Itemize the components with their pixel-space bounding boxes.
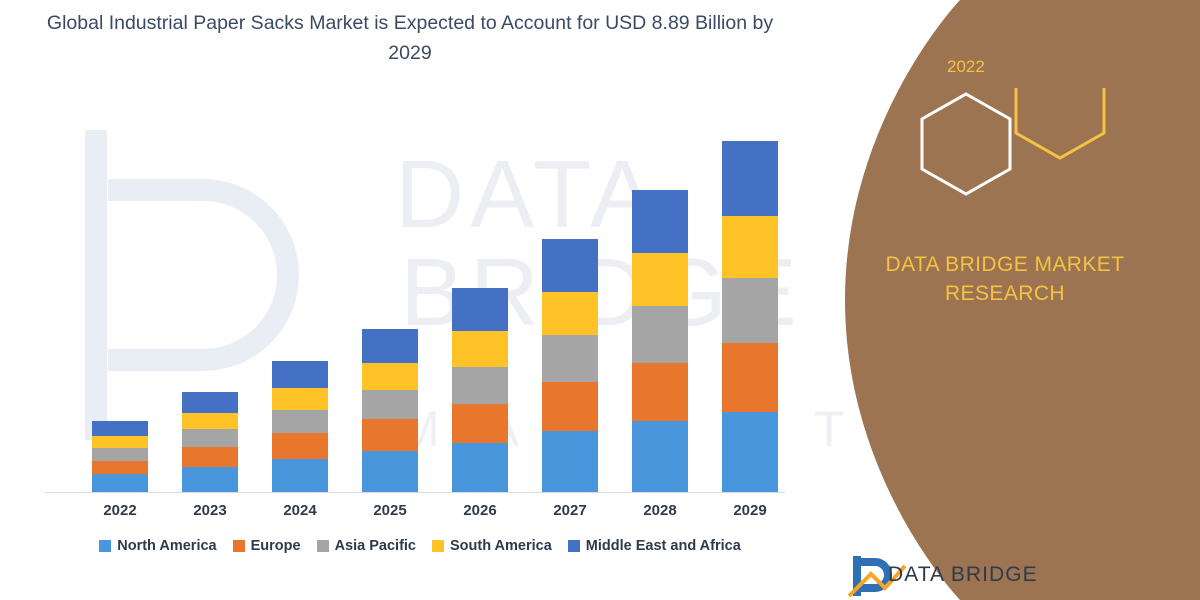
bar-segment [92,436,148,448]
bar-segment [362,451,418,492]
bar-segment [632,190,688,253]
legend-item[interactable]: North America [99,538,216,554]
bar-group [362,329,418,492]
x-axis-labels: 20222023202420252026202720282029 [40,498,800,524]
chart-infographic: DATA BRIDGE M A R K E T R E S E A R C H … [0,0,1200,600]
x-axis-tick-label: 2029 [715,502,785,519]
x-axis-tick-label: 2027 [535,502,605,519]
brand-name-line1: DATA BRIDGE MARKET [840,250,1170,279]
bar-segment [722,343,778,412]
bar-segment [362,390,418,419]
bar-segment [182,467,238,492]
legend-label: Europe [251,538,301,554]
legend-item[interactable]: Europe [233,538,301,554]
bar-segment [362,329,418,362]
legend-label: North America [117,538,216,554]
bar-segment [272,410,328,434]
bar-segment [92,474,148,492]
chart-legend: North AmericaEuropeAsia PacificSouth Ame… [40,538,800,554]
bar-segment [542,239,598,292]
legend-swatch [568,540,580,552]
legend-item[interactable]: Asia Pacific [317,538,416,554]
bar-group [92,421,148,492]
bar-segment [722,216,778,279]
bar-segment [452,404,508,443]
bar-segment [182,392,238,413]
data-bridge-logo-text: DATA BRIDGE [888,563,1038,587]
hex-label-2022: 2022 [947,57,985,77]
bar-segment [722,412,778,492]
x-axis-tick-label: 2024 [265,502,335,519]
bar-segment [362,419,418,450]
bar-segment [632,421,688,492]
bar-segment [722,141,778,215]
bar-segment [452,288,508,331]
bar-group [452,288,508,492]
bar-group [632,190,688,492]
bar-segment [272,361,328,388]
bar-segment [632,253,688,306]
legend-swatch [432,540,444,552]
legend-item[interactable]: South America [432,538,552,554]
bar-group [542,239,598,492]
x-axis-tick-label: 2023 [175,502,245,519]
bar-segment [182,413,238,430]
bar-segment [92,421,148,436]
bar-segment [542,382,598,431]
brand-name-line2: RESEARCH [840,279,1170,308]
x-axis-tick-label: 2026 [445,502,515,519]
bar-segment [632,363,688,422]
bar-segment [452,367,508,404]
x-axis-tick-label: 2022 [85,502,155,519]
bar-segment [272,459,328,492]
legend-label: Asia Pacific [335,538,416,554]
brand-panel: Market, By Regions, 2022 to 2029 2022 20… [800,0,1200,600]
bar-segment [542,431,598,492]
bar-segment [272,433,328,458]
bar-segment [272,388,328,410]
bar-segment [182,429,238,447]
bar-segment [452,443,508,492]
bar-segment [632,306,688,363]
bar-group [272,361,328,492]
brand-name: DATA BRIDGE MARKET RESEARCH [840,250,1170,308]
legend-swatch [317,540,329,552]
stacked-bar-plot [40,100,800,492]
legend-swatch [233,540,245,552]
x-axis-tick-label: 2025 [355,502,425,519]
bar-segment [542,292,598,335]
bar-group [182,392,238,492]
bar-segment [722,278,778,343]
page-title: Global Industrial Paper Sacks Market is … [40,8,780,68]
legend-swatch [99,540,111,552]
hex-label-2029: 2029 [853,92,891,112]
bar-group [722,141,778,492]
legend-label: South America [450,538,552,554]
hexagon-badges [910,88,1160,233]
x-axis-tick-label: 2028 [625,502,695,519]
legend-item[interactable]: Middle East and Africa [568,538,741,554]
bar-segment [452,331,508,366]
bar-segment [182,447,238,467]
bar-segment [542,335,598,382]
bar-segment [92,448,148,461]
x-axis-line [45,492,785,493]
bar-segment [362,363,418,390]
bar-segment [92,461,148,475]
legend-label: Middle East and Africa [586,538,741,554]
